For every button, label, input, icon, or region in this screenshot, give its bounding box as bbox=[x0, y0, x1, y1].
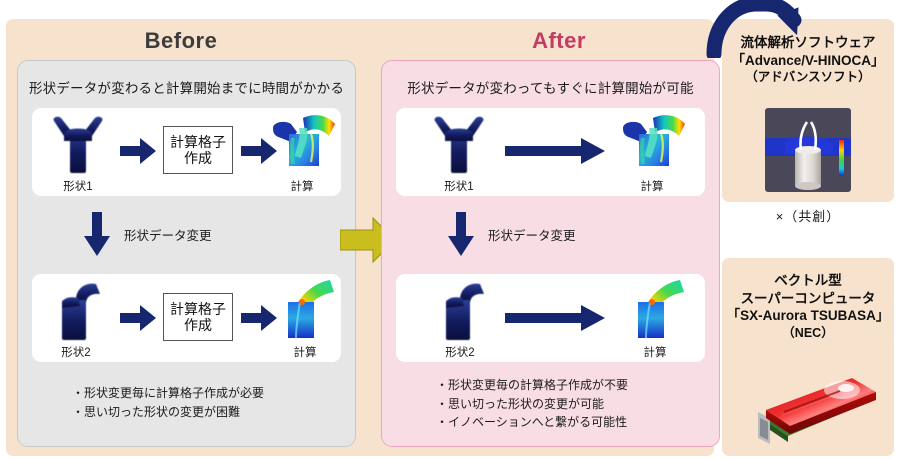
hardware-title-line2: スーパーコンピュータ bbox=[722, 290, 894, 308]
after-stage-1-result-image bbox=[617, 112, 687, 181]
software-title-line3: （アドバンスソフト） bbox=[722, 69, 894, 85]
before-stage-1-mesh-box: 計算格子 作成 bbox=[163, 126, 233, 174]
before-stage-1-mesh-line2: 作成 bbox=[184, 150, 212, 166]
after-stage-2-arrow bbox=[505, 304, 605, 337]
software-title-line2: 「Advance/V-HINOCA」 bbox=[722, 52, 894, 70]
software-title-line1: 流体解析ソフトウェア bbox=[722, 34, 894, 52]
before-stage-2-result-image bbox=[276, 280, 334, 347]
geometry-shape2-bent-icon bbox=[48, 282, 110, 344]
after-column-title: After bbox=[474, 28, 644, 54]
before-bullet-list: ・形状変更毎に計算格子作成が必要 ・思い切った形状の変更が困難 bbox=[72, 384, 264, 421]
slide-root: Before After 形状データが変わると計算開始までに時間がかかる 形状1 bbox=[0, 0, 900, 459]
after-bullet-1: ・形状変更毎の計算格子作成が不要 bbox=[436, 376, 628, 395]
after-bullet-2: ・思い切った形状の変更が可能 bbox=[436, 395, 628, 414]
hardware-title-line4: （NEC） bbox=[722, 325, 894, 341]
after-panel-heading: 形状データが変わってもすぐに計算開始が可能 bbox=[382, 77, 719, 97]
after-stage-2-shape-label: 形状2 bbox=[426, 344, 494, 360]
hardware-title-line1: ベクトル型 bbox=[722, 272, 894, 290]
before-stage-1-shape-label: 形状1 bbox=[44, 178, 112, 194]
after-stage-1-shape-label: 形状1 bbox=[425, 178, 493, 194]
geometry-shape1-y-icon bbox=[44, 115, 112, 177]
before-bullet-2: ・思い切った形状の変更が困難 bbox=[72, 403, 264, 422]
after-bullet-list: ・形状変更毎の計算格子作成が不要 ・思い切った形状の変更が可能 ・イノベーション… bbox=[436, 376, 628, 432]
co-creation-connector: ×（共創） bbox=[722, 206, 894, 225]
after-change-label: 形状データ変更 bbox=[488, 225, 576, 244]
hardware-card-title: ベクトル型 スーパーコンピュータ 「SX-Aurora TSUBASA」 （NE… bbox=[722, 272, 894, 341]
before-stage-2-result-label: 計算 bbox=[272, 344, 338, 360]
before-stage-2-shape-label: 形状2 bbox=[42, 344, 110, 360]
before-panel-heading: 形状データが変わると計算開始までに時間がかかる bbox=[18, 77, 355, 97]
before-column-title: Before bbox=[96, 28, 266, 54]
hardware-title-line3: 「SX-Aurora TSUBASA」 bbox=[722, 307, 894, 325]
after-stage-2-result-image bbox=[626, 280, 684, 347]
after-bullet-3: ・イノベーションへと繋がる可能性 bbox=[436, 413, 628, 432]
after-stage-1-arrow bbox=[505, 137, 605, 170]
before-stage-1-result-image bbox=[267, 112, 337, 181]
cfd-simulation-screenshot bbox=[765, 108, 851, 192]
before-change-arrow bbox=[84, 212, 110, 261]
before-change-label: 形状データ変更 bbox=[124, 225, 212, 244]
before-stage-1-result-label: 計算 bbox=[267, 178, 337, 194]
geometry-shape1-y-icon-after bbox=[425, 115, 493, 177]
after-stage-1-result-label: 計算 bbox=[617, 178, 687, 194]
before-stage-2-mesh-line1: 計算格子 bbox=[170, 301, 226, 317]
before-stage-2-mesh-box: 計算格子 作成 bbox=[163, 293, 233, 341]
red-vector-engine-card bbox=[748, 368, 880, 448]
before-stage-1-arrow-1 bbox=[120, 138, 156, 169]
before-stage-1-mesh-line1: 計算格子 bbox=[170, 134, 226, 150]
after-stage-2-result-label: 計算 bbox=[622, 344, 688, 360]
after-change-arrow bbox=[448, 212, 474, 261]
before-stage-2-arrow-2 bbox=[241, 305, 277, 336]
before-stage-2-mesh-line2: 作成 bbox=[184, 317, 212, 333]
before-bullet-1: ・形状変更毎に計算格子作成が必要 bbox=[72, 384, 264, 403]
software-card-title: 流体解析ソフトウェア 「Advance/V-HINOCA」 （アドバンスソフト） bbox=[722, 34, 894, 85]
geometry-shape2-bent-icon-after bbox=[432, 282, 494, 344]
before-stage-2-arrow-1 bbox=[120, 305, 156, 336]
